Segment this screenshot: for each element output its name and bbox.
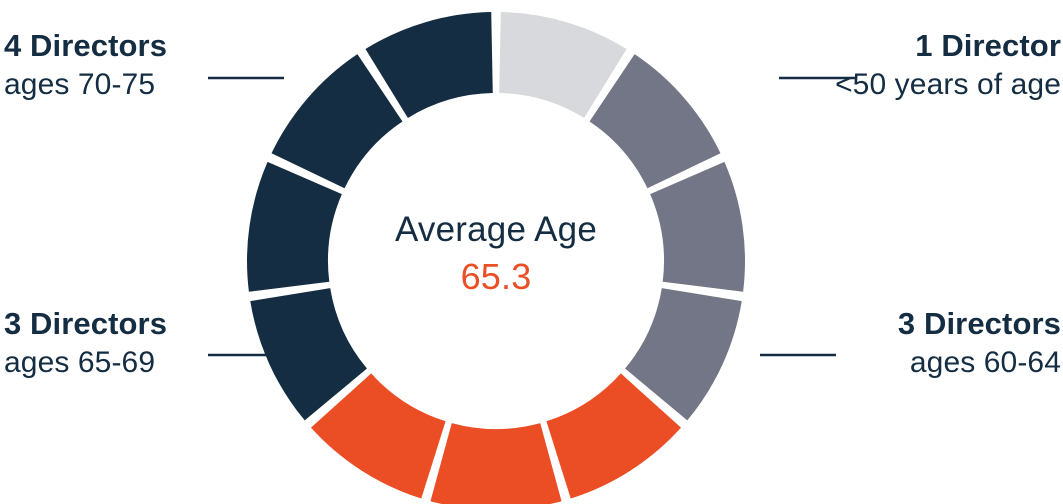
donut-slice-age-70-75 bbox=[247, 162, 342, 292]
donut-center-label: Average Age 65.3 bbox=[331, 212, 661, 295]
callout-top-left-title: 4 Directors bbox=[4, 30, 167, 61]
callout-bottom-right-title: 3 Directors bbox=[898, 308, 1061, 339]
donut-chart-figure: 4 Directors ages 70-75 3 Directors ages … bbox=[0, 0, 1063, 504]
callout-top-right-subtitle: <50 years of age bbox=[835, 70, 1061, 100]
average-age-value: 65.3 bbox=[331, 259, 661, 295]
donut-slice-age-60-64 bbox=[650, 162, 745, 292]
callout-age-60-64: 3 Directors ages 60-64 bbox=[898, 308, 1061, 378]
callout-age-70-75: 4 Directors ages 70-75 bbox=[4, 30, 167, 100]
callout-age-65-69: 3 Directors ages 65-69 bbox=[4, 308, 167, 378]
callout-bottom-right-subtitle: ages 60-64 bbox=[898, 348, 1061, 378]
callout-top-right-title: 1 Director bbox=[835, 30, 1061, 61]
callout-bottom-left-title: 3 Directors bbox=[4, 308, 167, 339]
callout-bottom-left-subtitle: ages 65-69 bbox=[4, 348, 167, 378]
callout-top-left-subtitle: ages 70-75 bbox=[4, 70, 167, 100]
callout-under-50: 1 Director <50 years of age bbox=[835, 30, 1061, 100]
donut-slice-age-65-69 bbox=[430, 423, 561, 504]
average-age-label: Average Age bbox=[331, 212, 661, 247]
